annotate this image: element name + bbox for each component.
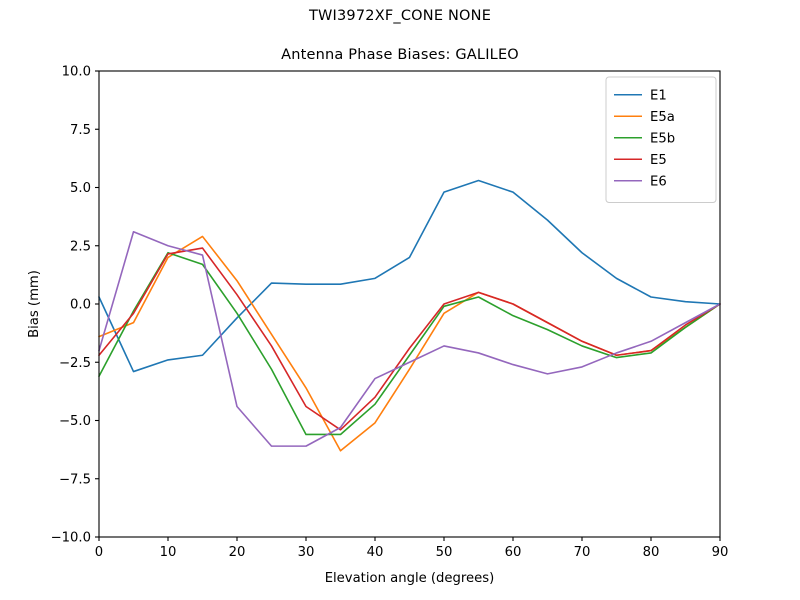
y-tick-label--5: −5.0 xyxy=(59,414,91,429)
line-chart-plot: 0102030405060708090−10.0−7.5−5.0−2.50.02… xyxy=(0,0,800,600)
x-tick-label-80: 80 xyxy=(643,545,660,560)
legend-label-E5: E5 xyxy=(650,153,667,168)
y-tick-label-10: 10.0 xyxy=(62,65,91,80)
x-tick-label-10: 10 xyxy=(160,545,177,560)
y-tick-label-7.5: 7.5 xyxy=(70,123,91,138)
chart-legend: E1E5aE5bE5E6 xyxy=(606,77,716,203)
x-tick-label-60: 60 xyxy=(505,545,522,560)
series-line-E5a xyxy=(99,236,720,450)
y-tick-label--7.5: −7.5 xyxy=(59,472,91,487)
series-group xyxy=(99,181,720,451)
y-tick-label--2.5: −2.5 xyxy=(59,356,91,371)
x-tick-label-70: 70 xyxy=(574,545,591,560)
x-tick-label-0: 0 xyxy=(95,545,103,560)
legend-label-E1: E1 xyxy=(650,88,667,103)
legend-label-E5b: E5b xyxy=(650,131,675,146)
x-tick-label-20: 20 xyxy=(229,545,246,560)
series-line-E6 xyxy=(99,232,720,446)
x-tick-label-40: 40 xyxy=(367,545,384,560)
series-line-E5b xyxy=(99,253,720,435)
y-tick-label-5: 5.0 xyxy=(70,181,91,196)
x-tick-label-90: 90 xyxy=(712,545,729,560)
x-tick-label-30: 30 xyxy=(298,545,315,560)
series-line-E1 xyxy=(99,181,720,372)
legend-label-E5a: E5a xyxy=(650,110,675,125)
x-tick-label-50: 50 xyxy=(436,545,453,560)
y-tick-label-0: 0.0 xyxy=(70,298,91,313)
figure-canvas: TWI3972XF_CONE NONE Antenna Phase Biases… xyxy=(0,0,800,600)
legend-label-E6: E6 xyxy=(650,174,667,189)
y-tick-label-2.5: 2.5 xyxy=(70,239,91,254)
x-axis-label: Elevation angle (degrees) xyxy=(325,571,495,586)
series-line-E5 xyxy=(99,248,720,430)
y-axis-label: Bias (mm) xyxy=(27,270,42,338)
y-tick-label--10: −10.0 xyxy=(51,531,91,546)
